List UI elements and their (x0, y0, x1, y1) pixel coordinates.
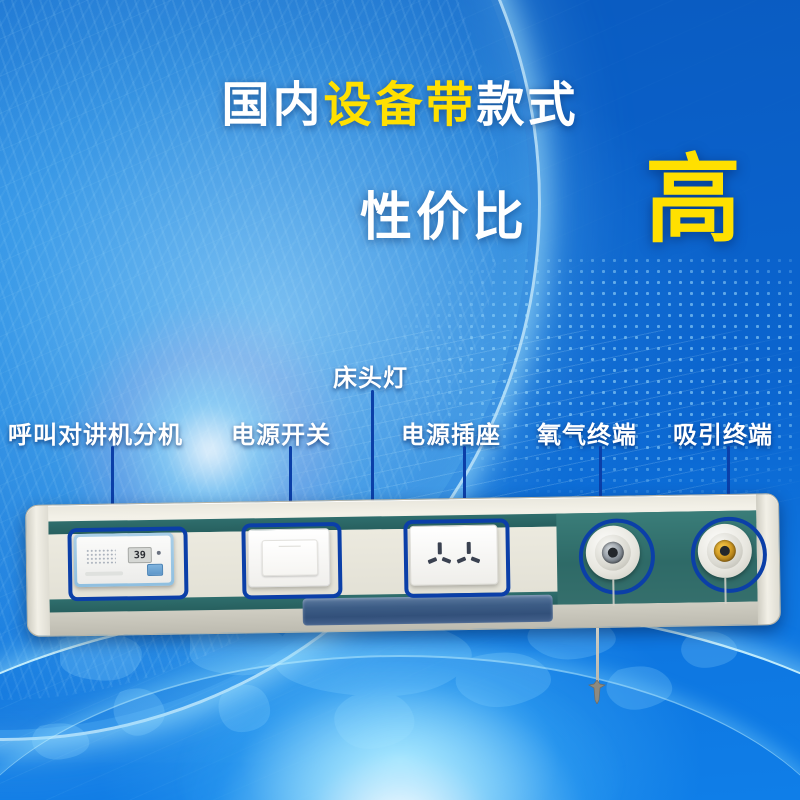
socket-pin-vertical (467, 542, 471, 554)
headline-line-2: 性价比 高 (0, 162, 800, 180)
power-socket[interactable] (409, 524, 498, 585)
pull-cord-handle-icon[interactable] (586, 680, 608, 704)
oxygen-outlet-port (602, 542, 624, 564)
callout-label-power-socket: 电源插座 (401, 415, 501, 450)
oxygen-outlet-ring (595, 534, 632, 571)
intercom-faceplate: 39 (77, 536, 172, 584)
callout-label-bed-lamp: 床头灯 (333, 358, 408, 393)
oxygen-outlet-hole (608, 548, 618, 558)
callout-label-power-switch: 电源开关 (231, 415, 331, 450)
callout-label-suction-outlet: 吸引终端 (673, 415, 773, 450)
subheadline-text: 性价比 (360, 175, 528, 250)
intercom-call-button[interactable] (147, 564, 163, 576)
socket-outlet-left[interactable] (425, 542, 455, 568)
socket-outlet-right[interactable] (454, 542, 484, 568)
indicator-led-icon (157, 551, 161, 555)
callout-label-oxygen-outlet: 氧气终端 (537, 415, 637, 450)
intercom-slot (85, 571, 123, 576)
socket-pin-right (442, 557, 452, 564)
oxygen-cord (612, 580, 614, 606)
headline-text-suffix: 款式 (477, 79, 579, 132)
headline-block: 国内设备带款式 性价比 高 (0, 82, 800, 130)
panel-end-cap-left (26, 506, 50, 636)
nurse-call-intercom[interactable]: 39 (73, 533, 174, 588)
suction-cord (724, 578, 726, 604)
socket-pin-right (471, 556, 481, 563)
headline-emphasis-char: 高 (645, 153, 741, 249)
suction-outlet-ring (707, 533, 744, 570)
promo-banner: 国内设备带款式 性价比 高 呼叫对讲机分机 电源开关 床头灯 电源插座 氧气终端… (0, 0, 800, 800)
panel-end-cap-right (756, 494, 780, 624)
bed-head-unit: 39 (25, 493, 779, 635)
bed-lamp-cover (303, 595, 553, 626)
callout-label-intercom: 呼叫对讲机分机 (8, 415, 183, 450)
headline-line-1: 国内设备带款式 (0, 82, 800, 130)
socket-pin-left (428, 557, 438, 564)
socket-pin-left (457, 556, 467, 563)
speaker-grille-icon (86, 548, 116, 563)
socket-pin-vertical (438, 542, 442, 554)
suction-outlet-hole (720, 546, 730, 556)
intercom-display: 39 (128, 547, 152, 563)
headline-text-highlight: 设备带 (323, 79, 476, 132)
power-switch[interactable] (247, 528, 330, 587)
headline-text-prefix: 国内 (221, 79, 323, 132)
rocker-toggle[interactable] (262, 539, 319, 576)
suction-outlet-port (714, 540, 736, 562)
